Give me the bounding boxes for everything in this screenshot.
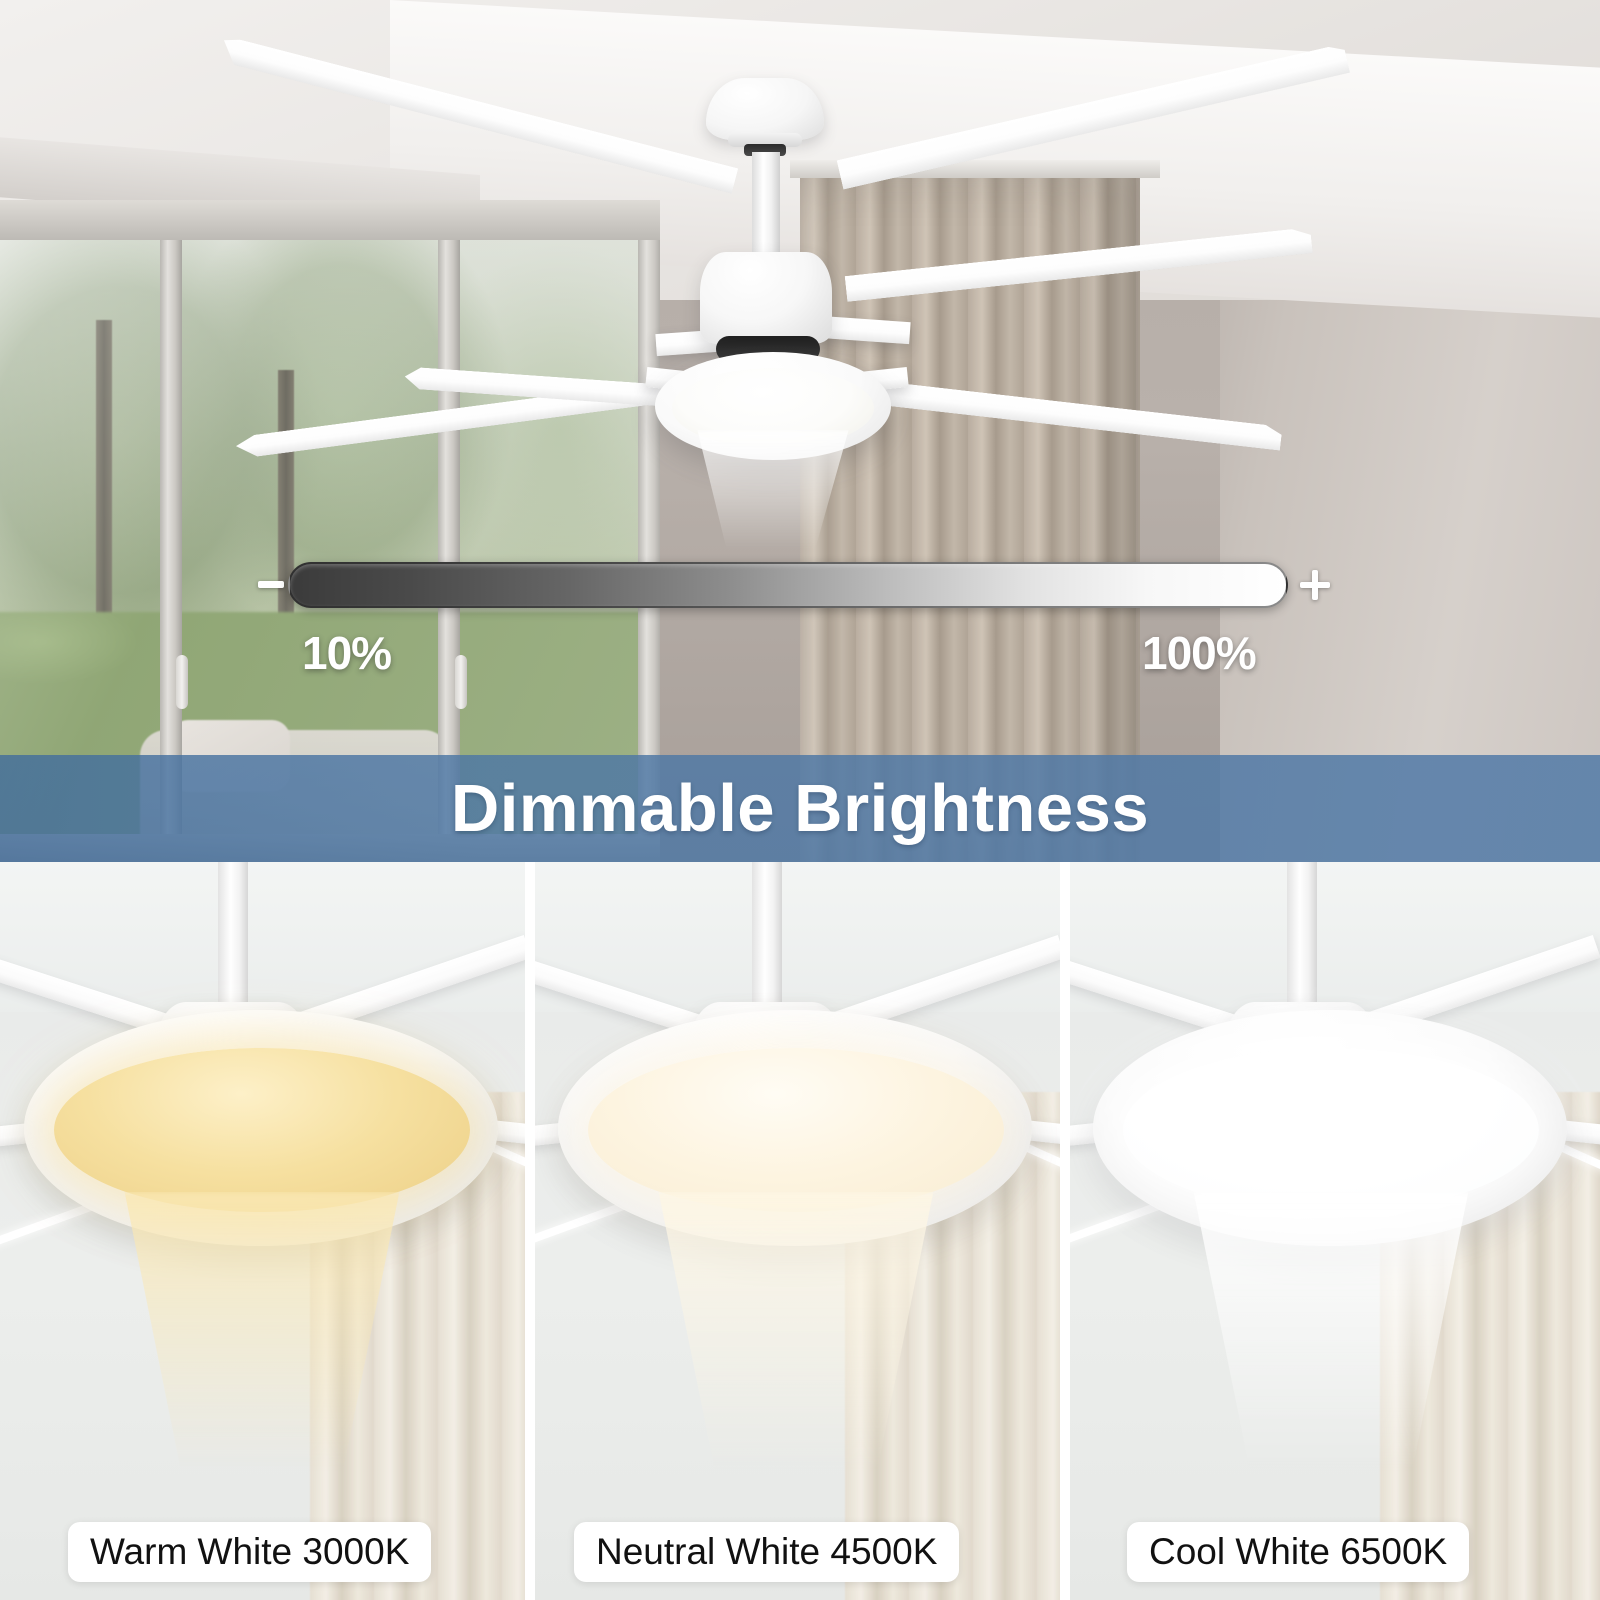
brightness-min-label: 10% [302,626,391,680]
color-temp-label: Warm White 3000K [68,1522,431,1582]
panel-divider [525,862,535,1600]
minus-icon[interactable] [258,581,284,588]
fan-downrod [752,862,782,1012]
color-temp-panel-neutral-white[interactable]: Neutral White 4500K [530,862,1065,1600]
fan-downrod [1287,862,1317,1012]
brightness-slider-track[interactable] [288,562,1288,608]
brightness-slider-control[interactable]: 10% 100% [0,0,1600,862]
color-temp-panel-cool-white[interactable]: Cool White 6500K [1065,862,1600,1600]
led-light-lens [588,1048,1004,1212]
color-temp-label: Cool White 6500K [1127,1522,1469,1582]
plus-icon[interactable] [1300,570,1330,600]
color-temp-panel-warm-white[interactable]: Warm White 3000K [0,862,530,1600]
color-temp-label: Neutral White 4500K [574,1522,959,1582]
panel-divider [1060,862,1070,1600]
led-light-lens [1123,1048,1539,1212]
top-room-scene: 10% 100% Dimmable Brightness [0,0,1600,862]
color-temperature-row: Warm White 3000K Neutral White 4500K [0,862,1600,1600]
brightness-max-label: 100% [1142,626,1256,680]
led-light-lens [54,1048,470,1212]
banner-title: Dimmable Brightness [451,770,1149,847]
fan-downrod [218,862,248,1012]
feature-banner: Dimmable Brightness [0,755,1600,862]
